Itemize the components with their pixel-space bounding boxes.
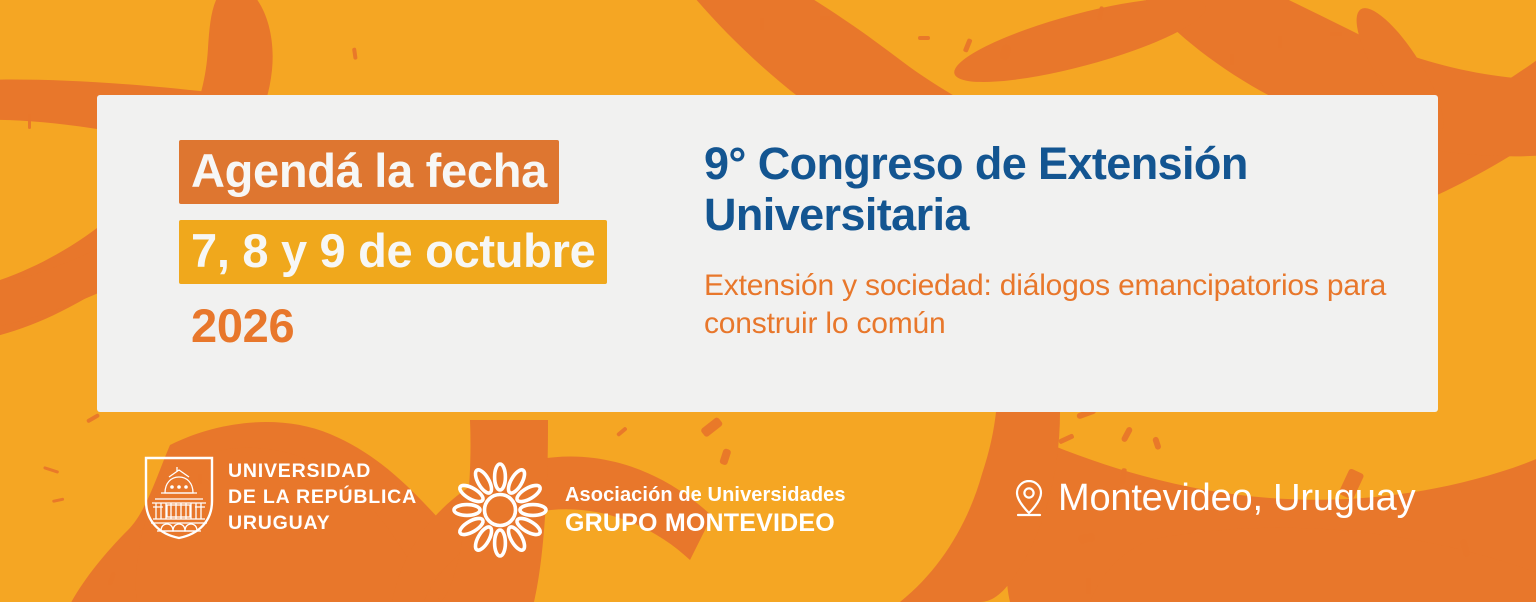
congress-subtitle: Extensión y sociedad: diálogos emancipat… xyxy=(704,267,1394,343)
event-dates: 7, 8 y 9 de octubre xyxy=(179,220,607,284)
udelar-shield-icon xyxy=(143,455,215,541)
congress-block: 9° Congreso de Extensión Universitaria E… xyxy=(704,139,1394,343)
augm-line-1: Asociación de Universidades xyxy=(565,483,846,508)
event-year: 2026 xyxy=(179,302,649,350)
udelar-logo: UNIVERSIDAD DE LA REPÚBLICA URUGUAY xyxy=(143,455,417,541)
dates-row: 7, 8 y 9 de octubre xyxy=(179,206,649,284)
event-banner: Agendá la fecha 7, 8 y 9 de octubre 2026… xyxy=(0,0,1536,602)
congress-title: 9° Congreso de Extensión Universitaria xyxy=(704,139,1394,241)
event-location: Montevideo, Uruguay xyxy=(1012,478,1415,518)
announcement-card: Agendá la fecha 7, 8 y 9 de octubre 2026… xyxy=(97,95,1438,412)
headline-row: Agendá la fecha xyxy=(179,140,649,204)
udelar-name: UNIVERSIDAD DE LA REPÚBLICA URUGUAY xyxy=(228,459,417,536)
augm-line-2: GRUPO MONTEVIDEO xyxy=(565,508,846,538)
banner-footer: UNIVERSIDAD DE LA REPÚBLICA URUGUAY xyxy=(0,440,1536,580)
location-label: Montevideo, Uruguay xyxy=(1058,479,1415,517)
save-the-date-headline: Agendá la fecha xyxy=(179,140,559,204)
map-pin-icon xyxy=(1012,478,1046,518)
augm-sun-icon xyxy=(452,462,548,558)
augm-name-block: Asociación de Universidades GRUPO MONTEV… xyxy=(565,483,846,538)
augm-logo: Asociación de Universidades GRUPO MONTEV… xyxy=(452,462,846,558)
save-the-date-block: Agendá la fecha 7, 8 y 9 de octubre 2026 xyxy=(179,140,649,350)
